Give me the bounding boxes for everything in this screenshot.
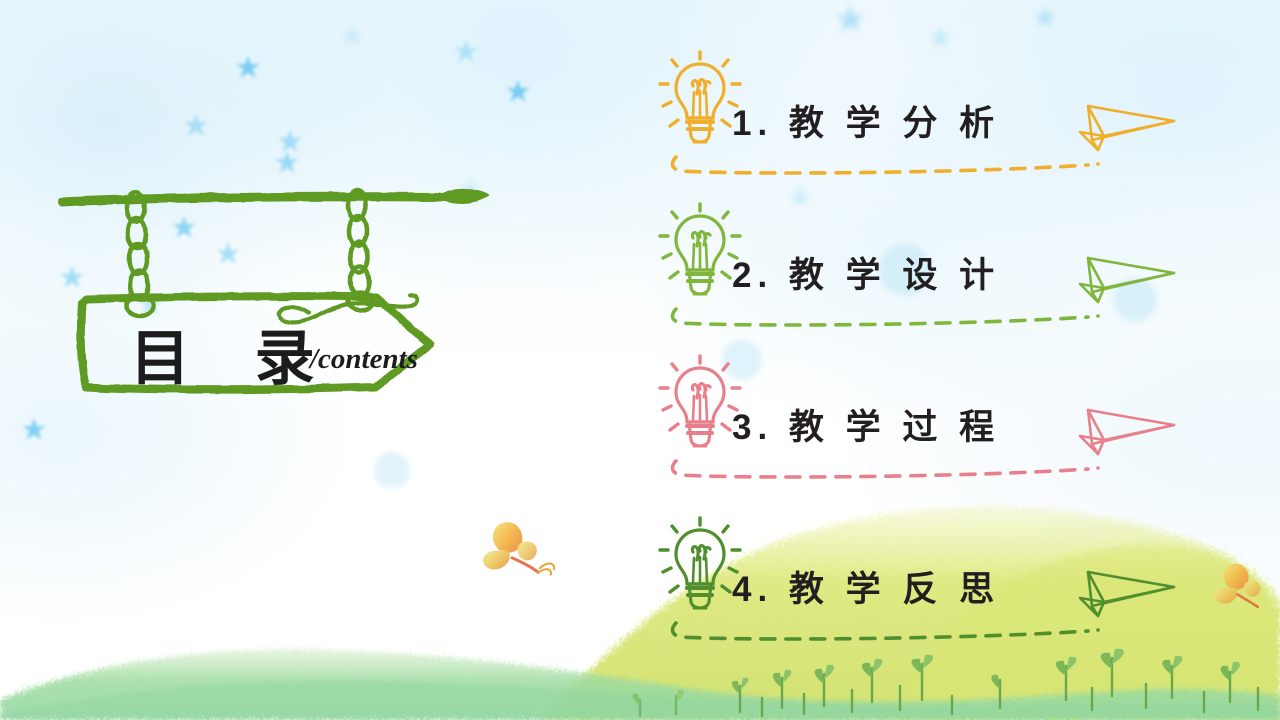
menu-item-2-label: 2. 教 学 设 计	[732, 250, 1092, 302]
menu-item-3[interactable]: 3. 教 学 过 程	[636, 344, 1236, 494]
menu-item-1-label: 1. 教 学 分 析	[732, 98, 1092, 150]
menu-item-3-label: 3. 教 学 过 程	[732, 402, 1092, 454]
menu-dashed-line	[670, 621, 1102, 641]
contents-title-en: /contents	[310, 343, 418, 376]
butterfly-left	[478, 516, 555, 583]
contents-sign: 目 录 /contents	[40, 175, 550, 435]
contents-title-cn: 目 录	[130, 310, 339, 397]
menu-item-4-label: 4. 教 学 反 思	[732, 564, 1092, 616]
menu-item-2[interactable]: 2. 教 学 设 计	[636, 192, 1236, 342]
slide-canvas: 目 录 /contents	[0, 0, 1280, 720]
menu-dashed-line	[670, 307, 1102, 327]
menu-dashed-line	[670, 155, 1102, 175]
contents-menu: 1. 教 学 分 析	[636, 40, 1236, 690]
menu-item-4[interactable]: 4. 教 学 反 思	[636, 506, 1236, 656]
menu-dashed-line	[670, 459, 1102, 479]
menu-item-1[interactable]: 1. 教 学 分 析	[636, 40, 1236, 190]
